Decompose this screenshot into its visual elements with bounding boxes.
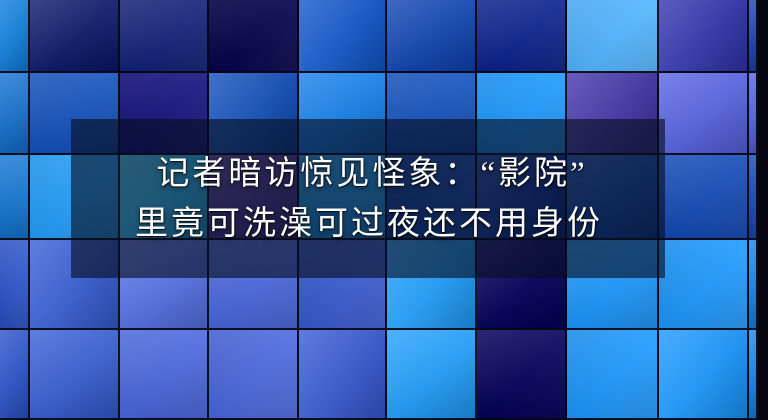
mosaic-tile [120, 0, 209, 73]
mosaic-tile [749, 73, 758, 155]
mosaic-tile [659, 330, 749, 420]
mosaic-tile [567, 330, 659, 420]
mosaic-tile [0, 0, 30, 73]
mosaic-tile [477, 240, 567, 330]
mosaic-tile [0, 155, 30, 240]
mosaic-tile [567, 240, 659, 330]
mosaic-tile [30, 240, 120, 330]
mosaic-tile [387, 155, 477, 240]
mosaic-tile [209, 73, 299, 155]
mosaic-tile [477, 330, 567, 420]
mosaic-tile [477, 155, 567, 240]
mosaic-tile [0, 73, 30, 155]
mosaic-tile [0, 240, 30, 330]
mosaic-tile [659, 155, 749, 240]
mosaic-tile [209, 0, 299, 73]
mosaic-tile [387, 73, 477, 155]
mosaic-tile [299, 73, 387, 155]
mosaic-tile [30, 330, 120, 420]
mosaic-tile [209, 155, 299, 240]
mosaic-tile [120, 240, 209, 330]
mosaic-tile [299, 0, 387, 73]
mosaic-tile [749, 155, 758, 240]
mosaic-tile [30, 155, 120, 240]
mosaic-tile [299, 155, 387, 240]
mosaic-tile [659, 0, 749, 73]
banner-image: 记者暗访惊见怪象：“影院” 里竟可洗澡可过夜还不用身份 [0, 0, 768, 420]
mosaic-tile [0, 330, 30, 420]
mosaic-tile [299, 330, 387, 420]
mosaic-tile [209, 330, 299, 420]
mosaic-tile [567, 73, 659, 155]
mosaic-tile [477, 0, 567, 73]
mosaic-tile [299, 240, 387, 330]
mosaic-tile [567, 155, 659, 240]
mosaic-tile [120, 330, 209, 420]
mosaic-tile [30, 0, 120, 73]
mosaic-background [0, 0, 768, 420]
mosaic-tile [387, 240, 477, 330]
mosaic-tile [120, 73, 209, 155]
mosaic-tile [749, 240, 758, 330]
mosaic-tile [659, 73, 749, 155]
mosaic-tile [749, 330, 758, 420]
mosaic-tile [30, 73, 120, 155]
mosaic-tile [659, 240, 749, 330]
mosaic-tile [209, 240, 299, 330]
mosaic-tile [387, 330, 477, 420]
mosaic-tile [567, 0, 659, 73]
mosaic-tile [749, 0, 758, 73]
mosaic-tile [477, 73, 567, 155]
mosaic-tile [387, 0, 477, 73]
mosaic-tile [120, 155, 209, 240]
